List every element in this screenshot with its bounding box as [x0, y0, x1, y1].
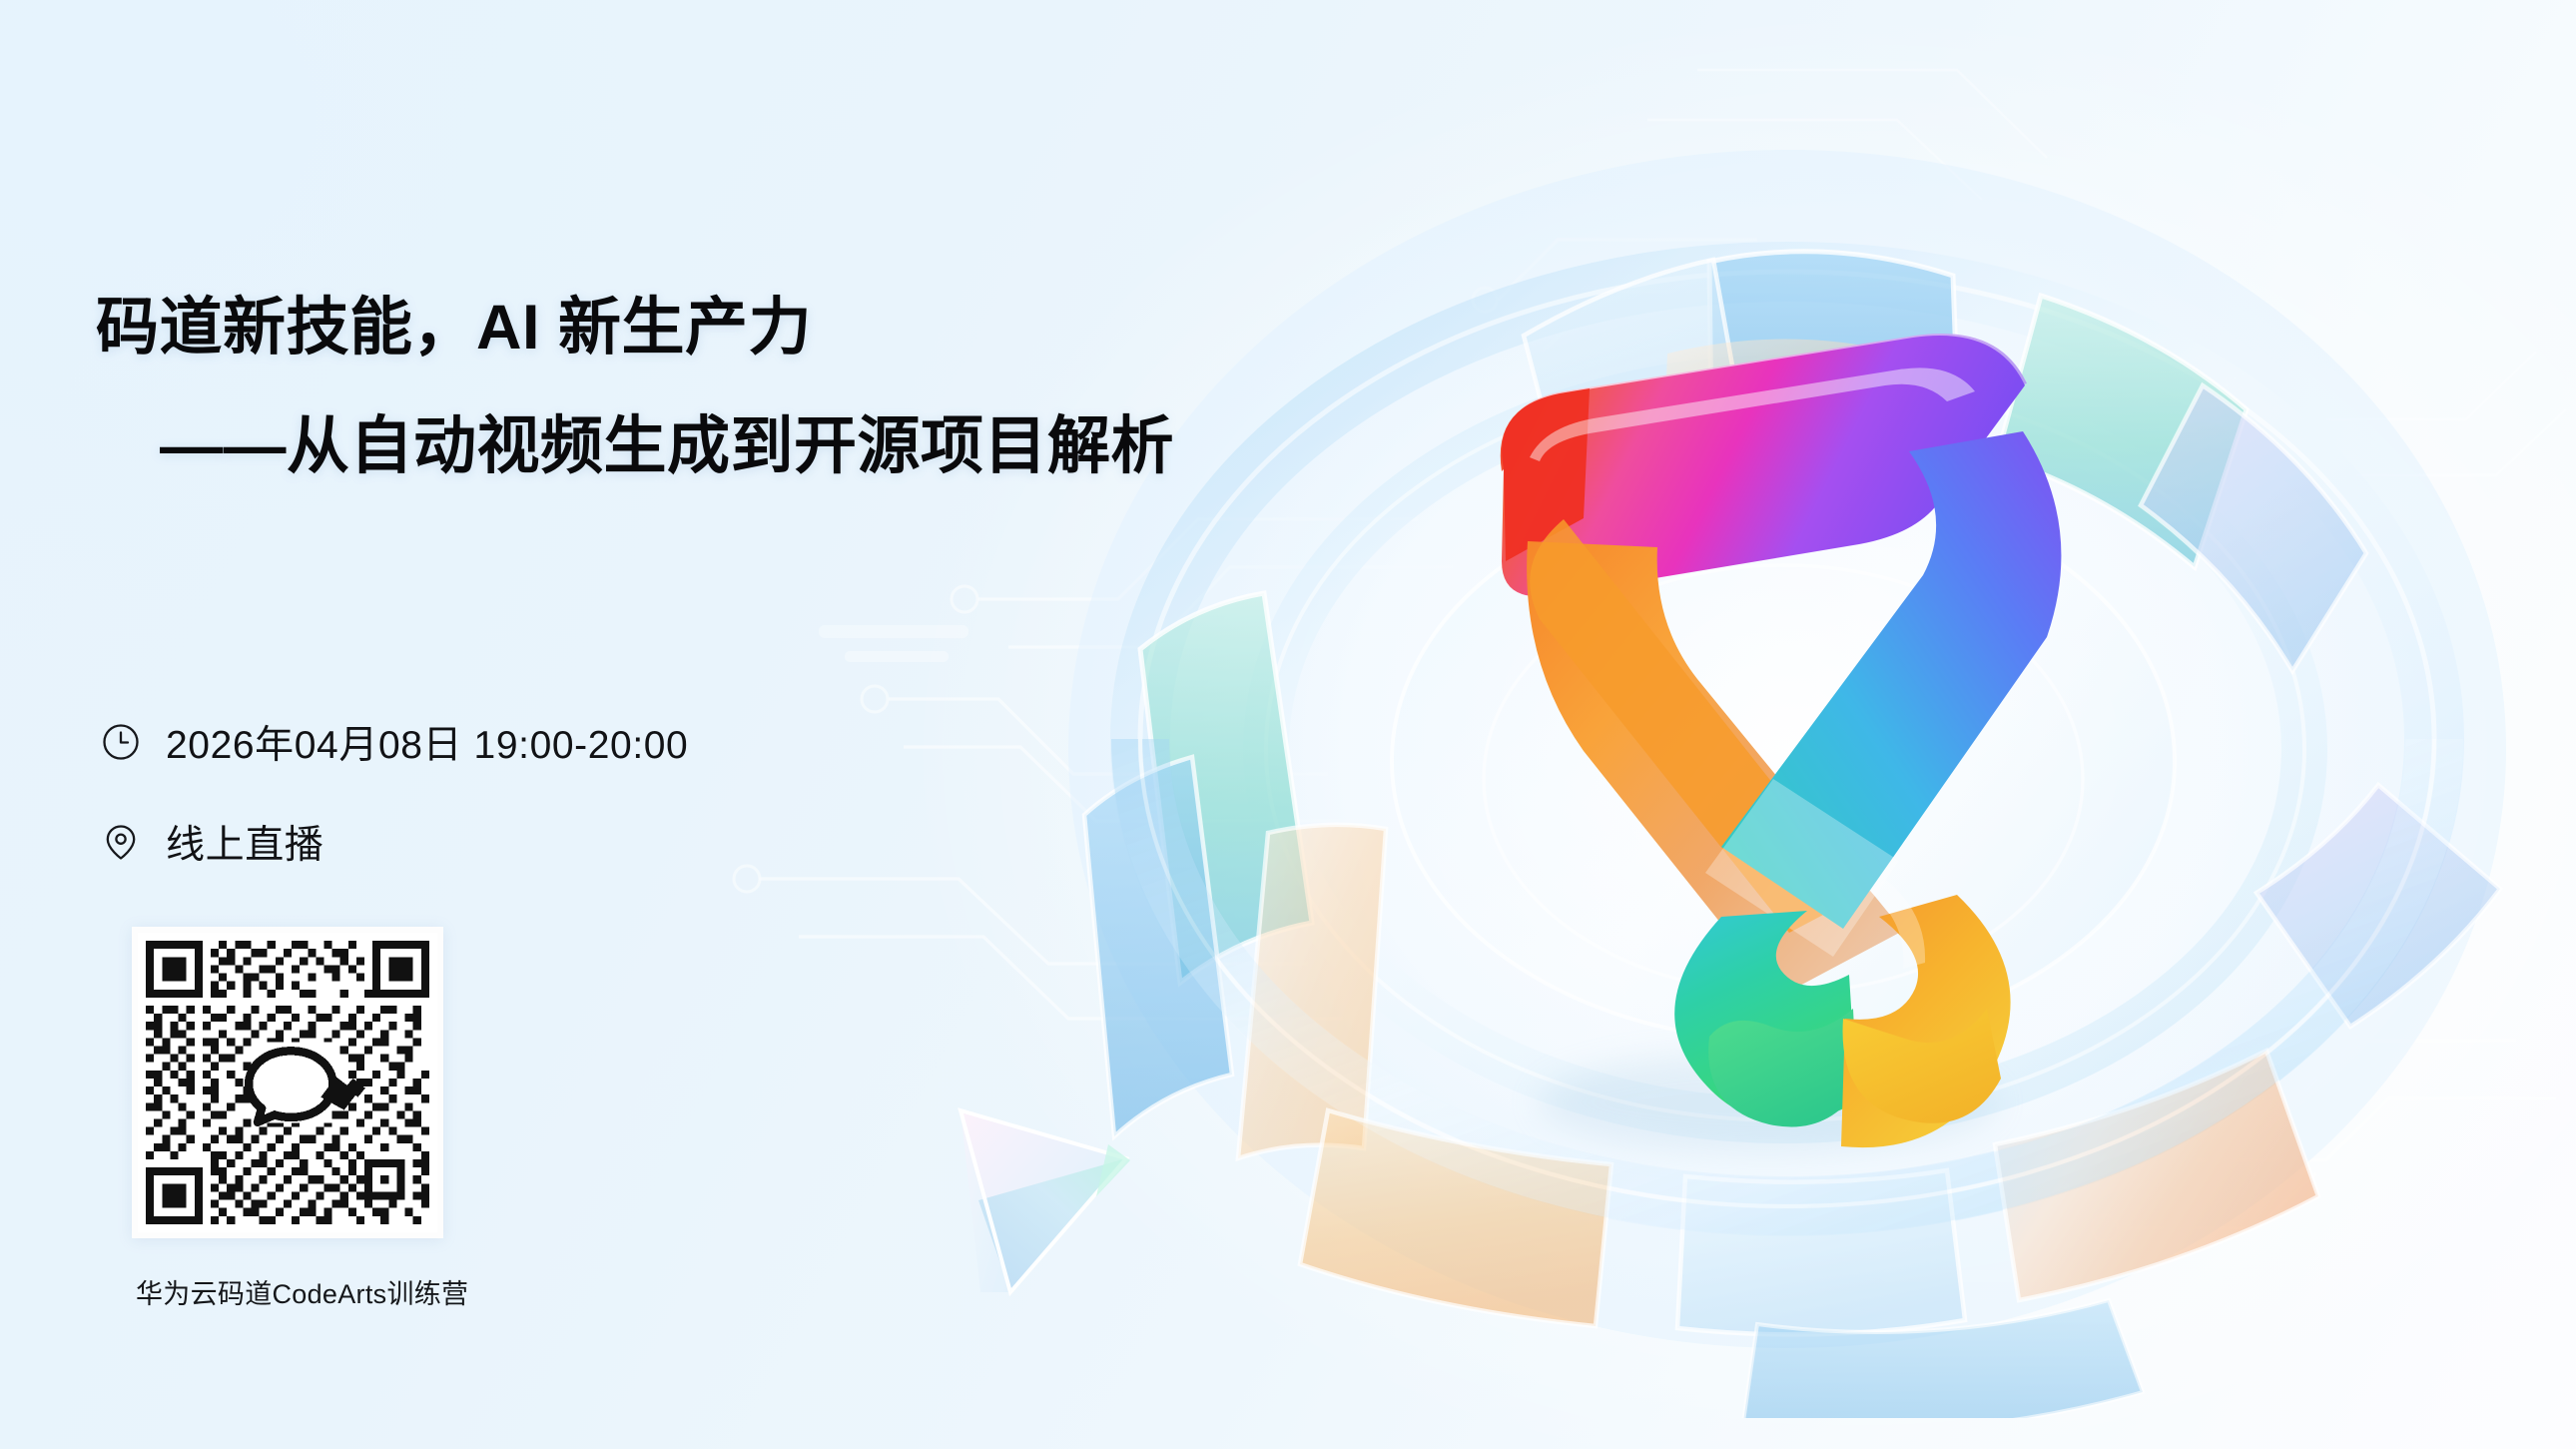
detail-row-datetime: 2026年04月08日 19:00-20:00 — [100, 714, 688, 770]
clock-icon — [100, 721, 142, 763]
title-line-2: ——从自动视频生成到开源项目解析 — [96, 410, 1244, 483]
event-details: 2026年04月08日 19:00-20:00 线上直播 — [100, 714, 688, 914]
inner-ring — [1392, 481, 2175, 1041]
webinar-banner: 码道新技能，AI 新生产力 ——从自动视频生成到开源项目解析 2026年04月0… — [0, 0, 2576, 1449]
qr-code-image[interactable] — [132, 927, 443, 1238]
qr-caption: 华为云码道CodeArts训练营 — [136, 1272, 447, 1311]
qr-block: 华为云码道CodeArts训练营 — [132, 927, 443, 1311]
petals-back — [1524, 252, 2366, 671]
rainbow-ribbon — [1501, 334, 2062, 1152]
detail-row-venue: 线上直播 — [100, 814, 688, 870]
petals-front — [1084, 593, 2500, 1418]
page-title: 码道新技能，AI 新生产力 ——从自动视频生成到开源项目解析 — [96, 292, 1244, 483]
datetime-label: 2026年04月08日 19:00-20:00 — [166, 714, 688, 770]
emblem-glow — [1068, 150, 2506, 1348]
qr-matrix — [138, 933, 437, 1232]
title-line-1: 码道新技能，AI 新生产力 — [96, 292, 1244, 364]
outer-ring-back — [1140, 272, 2434, 1206]
content-column: 码道新技能，AI 新生产力 ——从自动视频生成到开源项目解析 2026年04月0… — [0, 0, 1248, 1449]
outer-ring-front — [1140, 739, 2434, 1206]
venue-label: 线上直播 — [166, 814, 323, 870]
middle-ring — [1266, 377, 2304, 1120]
location-pin-icon — [100, 821, 142, 863]
